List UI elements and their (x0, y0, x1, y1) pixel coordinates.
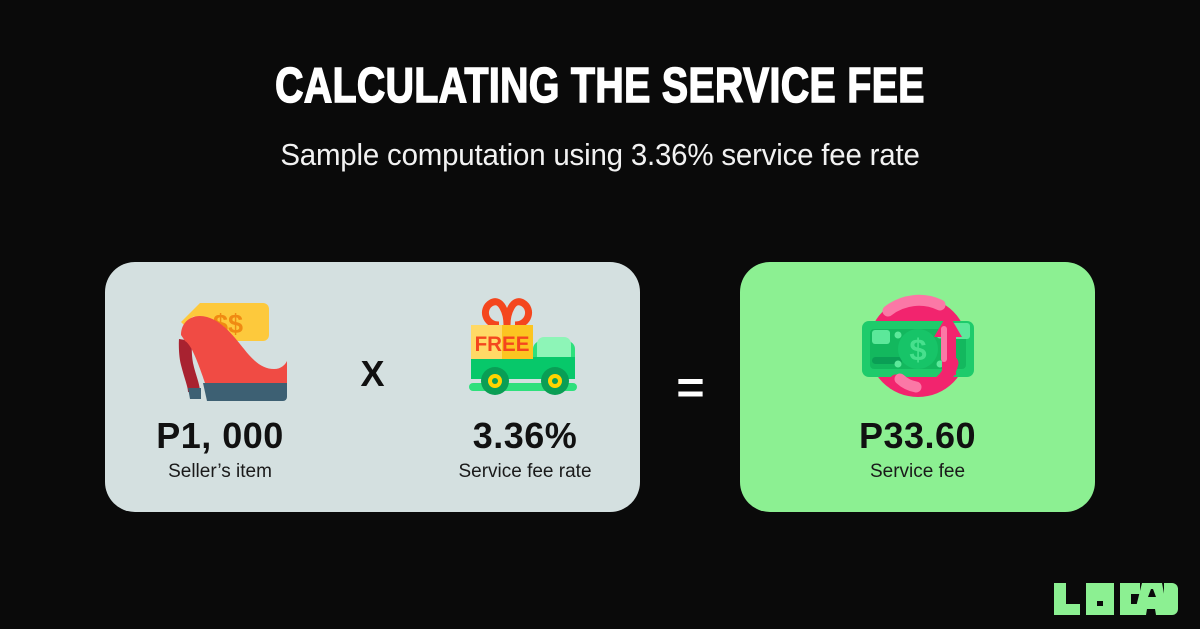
service-fee-rate-amount: 3.36% (473, 417, 578, 455)
equals-operator: = (640, 364, 740, 410)
service-fee-rate-caption: Service fee rate (458, 460, 591, 484)
free-delivery-truck-icon: FREE (455, 289, 595, 409)
equation-right-card: $ P33.60 Service fee (740, 262, 1095, 512)
equation-item-service-fee: $ P33.60 Service fee (803, 289, 1033, 484)
sellers-item-amount: P1, 000 (156, 417, 284, 455)
equals-symbol: = (676, 364, 704, 410)
page-subtitle: Sample computation using 3.36% service f… (30, 137, 1170, 173)
service-fee-caption: Service fee (870, 460, 965, 484)
svg-text:FREE: FREE (475, 333, 530, 356)
multiply-operator: X (335, 356, 410, 418)
page-title: CALCULATING THE SERVICE FEE (120, 62, 1080, 111)
currency-glyph: $ (909, 332, 926, 367)
locad-logo: LOCAD (1052, 581, 1178, 617)
service-fee-amount: P33.60 (859, 417, 976, 455)
equation-item-service-fee-rate: FREE 3.36% Service fee rate (410, 289, 640, 484)
money-refund-icon: $ (848, 289, 988, 409)
locad-logo-mark (1052, 581, 1178, 617)
service-fee-equation: $$ P1, 000 Seller’s item X (0, 262, 1200, 512)
equation-left-card: $$ P1, 000 Seller’s item X (105, 262, 640, 512)
sellers-item-caption: Seller’s item (168, 460, 272, 484)
header: CALCULATING THE SERVICE FEE Sample compu… (0, 0, 1200, 173)
high-heel-shoe-price-tag-icon: $$ (145, 289, 295, 409)
multiply-symbol: X (360, 356, 384, 392)
equation-item-sellers-item: $$ P1, 000 Seller’s item (105, 289, 335, 484)
